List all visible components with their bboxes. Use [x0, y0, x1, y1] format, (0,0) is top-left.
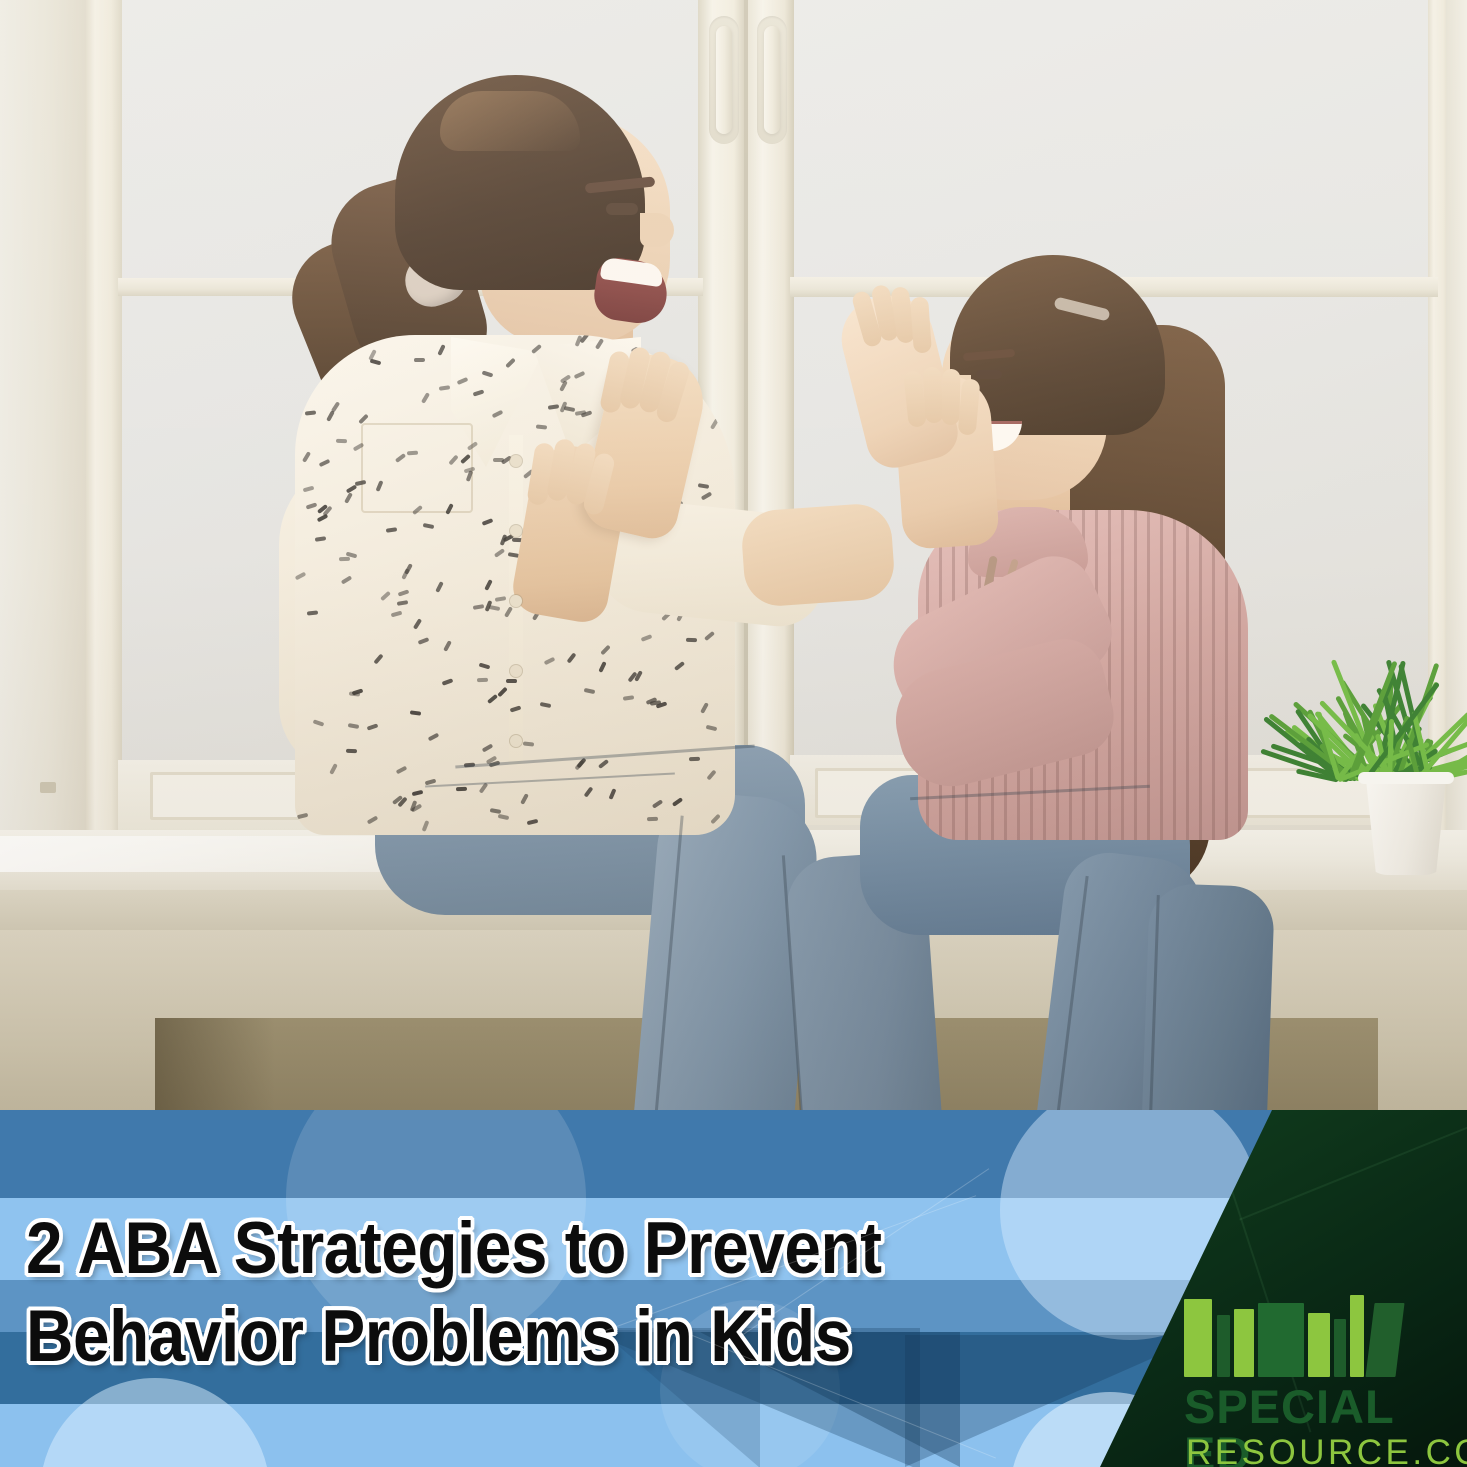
- blouse-speck: [448, 454, 458, 465]
- woman-eye: [606, 203, 638, 215]
- sweater-rib: [1147, 510, 1150, 840]
- blouse-speck: [491, 409, 503, 417]
- blouse-speck: [647, 817, 658, 821]
- sweater-rib: [1186, 510, 1189, 840]
- blouse-speck: [521, 793, 530, 805]
- person-woman: [265, 55, 845, 1120]
- blouse-speck: [504, 606, 513, 618]
- blouse-button-5: [510, 735, 522, 747]
- blouse-speck: [413, 618, 422, 629]
- hero-photo: [0, 0, 1467, 1120]
- blouse-speck: [473, 390, 485, 397]
- blouse-speck: [437, 345, 445, 357]
- blouse-speck: [339, 557, 350, 561]
- blouse-speck: [566, 652, 576, 663]
- blouse-speck: [495, 597, 506, 603]
- sweater-rib: [1238, 510, 1241, 840]
- blouse-speck: [412, 505, 423, 515]
- blouse-speck: [652, 800, 663, 809]
- blouse-speck: [689, 756, 700, 761]
- blouse-speck: [441, 678, 453, 685]
- blouse-speck: [348, 723, 360, 729]
- blouse-speck: [305, 410, 316, 415]
- sweater-rib: [1121, 510, 1124, 840]
- blouse-speck: [526, 819, 538, 825]
- blouse-speck: [307, 611, 318, 616]
- sweater-rib: [1160, 510, 1163, 840]
- sweater-rib: [1212, 510, 1215, 840]
- logo-bar-8: [1365, 1303, 1404, 1377]
- blouse-speck: [336, 439, 347, 443]
- blouse-speck: [326, 410, 335, 422]
- blouse-speck: [707, 769, 717, 780]
- blouse-speck: [673, 661, 684, 671]
- blouse-speck: [708, 375, 719, 380]
- window-jamb-left: [86, 0, 122, 880]
- girl-finger-7: [942, 369, 961, 425]
- blouse-speck: [487, 694, 498, 704]
- blouse-speck: [701, 492, 713, 501]
- blouse-speck: [358, 414, 369, 425]
- blouse-button-3: [510, 595, 522, 607]
- blouse-speck: [705, 725, 717, 731]
- blouse-speck: [704, 630, 715, 640]
- blouse-speck: [455, 787, 466, 791]
- blouse-speck: [641, 634, 653, 642]
- logo-bar-2: [1217, 1315, 1230, 1377]
- blouse-speck: [391, 611, 403, 618]
- blouse-speck: [523, 741, 534, 746]
- blouse-speck: [439, 386, 450, 392]
- blouse-speck: [427, 733, 439, 742]
- blouse-speck: [531, 344, 542, 354]
- blouse-speck: [539, 702, 551, 708]
- blouse-speck: [420, 392, 429, 404]
- books-on-shelf-bar-icon: [1184, 1295, 1434, 1377]
- blouse-speck: [623, 695, 634, 700]
- blouse-speck: [397, 600, 408, 606]
- panel-line-4: [1239, 1121, 1467, 1220]
- blouse-speck: [352, 341, 363, 346]
- blouse-speck: [460, 454, 471, 464]
- blouse-speck: [575, 760, 585, 771]
- blouse-speck: [506, 679, 517, 683]
- blouse-button-1: [510, 455, 522, 467]
- blouse-speck: [485, 579, 494, 591]
- logo-bar-6: [1334, 1319, 1346, 1377]
- blouse-speck: [396, 766, 408, 775]
- blouse-speck: [710, 418, 719, 429]
- sweater-rib: [1134, 510, 1137, 840]
- blouse-speck: [493, 458, 504, 462]
- title-line-1: 2 ABA Strategies to Prevent: [26, 1205, 935, 1293]
- logo-bar-7: [1350, 1295, 1364, 1377]
- blouse-speck: [410, 710, 421, 715]
- sweater-rib: [1173, 510, 1176, 840]
- blouse-speck: [698, 483, 710, 489]
- blouse-speck: [354, 479, 366, 485]
- blouse-speck: [423, 523, 435, 529]
- plant-pot-rim: [1358, 772, 1454, 784]
- blouse-speck: [574, 370, 586, 378]
- blouse-speck: [583, 787, 593, 798]
- blouse-speck: [344, 492, 353, 504]
- blouse-speck: [548, 404, 559, 410]
- blouse-button-4: [510, 665, 522, 677]
- blouse-speck: [380, 590, 391, 600]
- blouse-speck: [456, 377, 468, 385]
- blouse-speck: [414, 358, 425, 362]
- girl-jeans-shin-back: [1140, 883, 1275, 1120]
- blouse-speck: [443, 640, 452, 652]
- blouse-speck: [712, 335, 721, 345]
- logo-bar-5: [1308, 1313, 1330, 1377]
- blouse-speck: [302, 451, 311, 462]
- blouse-speck: [700, 702, 709, 714]
- sweater-rib: [1108, 510, 1111, 840]
- brand-logo[interactable]: SPECIAL ED RESOURCE.COM: [1184, 1295, 1464, 1467]
- blouse-speck: [608, 788, 616, 800]
- blouse-speck: [505, 357, 516, 368]
- woman-nose: [640, 213, 674, 247]
- blouse-speck: [295, 571, 306, 580]
- blouse-speck: [497, 687, 508, 698]
- blouse-speck: [478, 662, 490, 669]
- blouse-speck: [446, 503, 455, 515]
- woman-hair-highlight: [440, 91, 580, 151]
- wall-left: [0, 0, 88, 900]
- blouse-speck: [536, 424, 547, 429]
- blouse-speck: [481, 518, 493, 526]
- window-latch[interactable]: [40, 782, 56, 793]
- blouse-speck: [584, 688, 596, 694]
- blouse-speck: [600, 645, 611, 656]
- blouse-speck: [473, 604, 485, 610]
- blouse-speck: [315, 536, 326, 542]
- potted-plant: [1300, 630, 1467, 880]
- blouse-speck: [353, 442, 365, 451]
- page-title: 2 ABA Strategies to Prevent Behavior Pro…: [26, 1205, 935, 1380]
- blouse-speck: [346, 749, 357, 754]
- blouse-speck: [317, 513, 329, 522]
- blouse-speck: [386, 527, 397, 533]
- blouse-speck: [595, 338, 604, 349]
- blouse-speck: [398, 589, 410, 596]
- blouse-speck: [672, 797, 683, 807]
- blouse-speck: [598, 759, 609, 769]
- logo-bar-4: [1258, 1303, 1304, 1377]
- blouse-speck: [482, 370, 494, 377]
- blouse-speck: [412, 790, 424, 796]
- blouse-speck: [686, 638, 697, 642]
- radiator-recess-shadow: [155, 1018, 275, 1120]
- blouse-speck: [498, 814, 510, 820]
- girl-eye: [976, 370, 1002, 379]
- blouse-speck: [699, 335, 710, 343]
- logo-bar-3: [1234, 1309, 1254, 1377]
- blouse-speck: [329, 763, 338, 775]
- blouse-speck: [395, 453, 406, 463]
- blouse-speck: [407, 451, 418, 456]
- blouse-speck: [509, 705, 521, 712]
- title-line-2: Behavior Problems in Kids: [26, 1293, 935, 1381]
- brand-name-secondary: RESOURCE.COM: [1186, 1435, 1467, 1467]
- blouse-speck: [296, 813, 308, 820]
- logo-bar-1: [1184, 1299, 1212, 1377]
- blouse-speck: [340, 576, 351, 585]
- sweater-rib: [1225, 510, 1228, 840]
- blouse-speck: [598, 661, 606, 673]
- blouse-speck: [494, 548, 505, 558]
- blouse-speck: [376, 480, 384, 492]
- sweater-rib: [1199, 510, 1202, 840]
- blouse-speck: [303, 485, 315, 492]
- blouse-speck: [490, 808, 502, 814]
- girl-finger-6: [923, 367, 944, 424]
- blouse-speck: [710, 814, 721, 825]
- blouse-speck: [374, 654, 384, 665]
- blouse-speck: [467, 442, 478, 452]
- blouse-speck: [481, 743, 493, 752]
- blouse-speck: [367, 723, 379, 730]
- featured-image-canvas: 2 ABA Strategies to Prevent Behavior Pro…: [0, 0, 1467, 1467]
- blouse-speck: [305, 502, 317, 509]
- blouse-speck: [313, 719, 325, 726]
- person-girl: [800, 255, 1230, 1120]
- blouse-button-2: [510, 525, 522, 537]
- blouse-speck: [544, 657, 556, 665]
- blouse-speck: [477, 678, 488, 682]
- girl-finger-4: [910, 296, 932, 353]
- plant-pot: [1362, 775, 1450, 875]
- blouse-speck: [436, 581, 445, 593]
- blouse-speck: [422, 820, 430, 832]
- blouse-speck: [402, 568, 410, 580]
- blouse-speck: [319, 459, 331, 467]
- blouse-speck: [418, 637, 430, 645]
- blouse-speck: [367, 815, 379, 824]
